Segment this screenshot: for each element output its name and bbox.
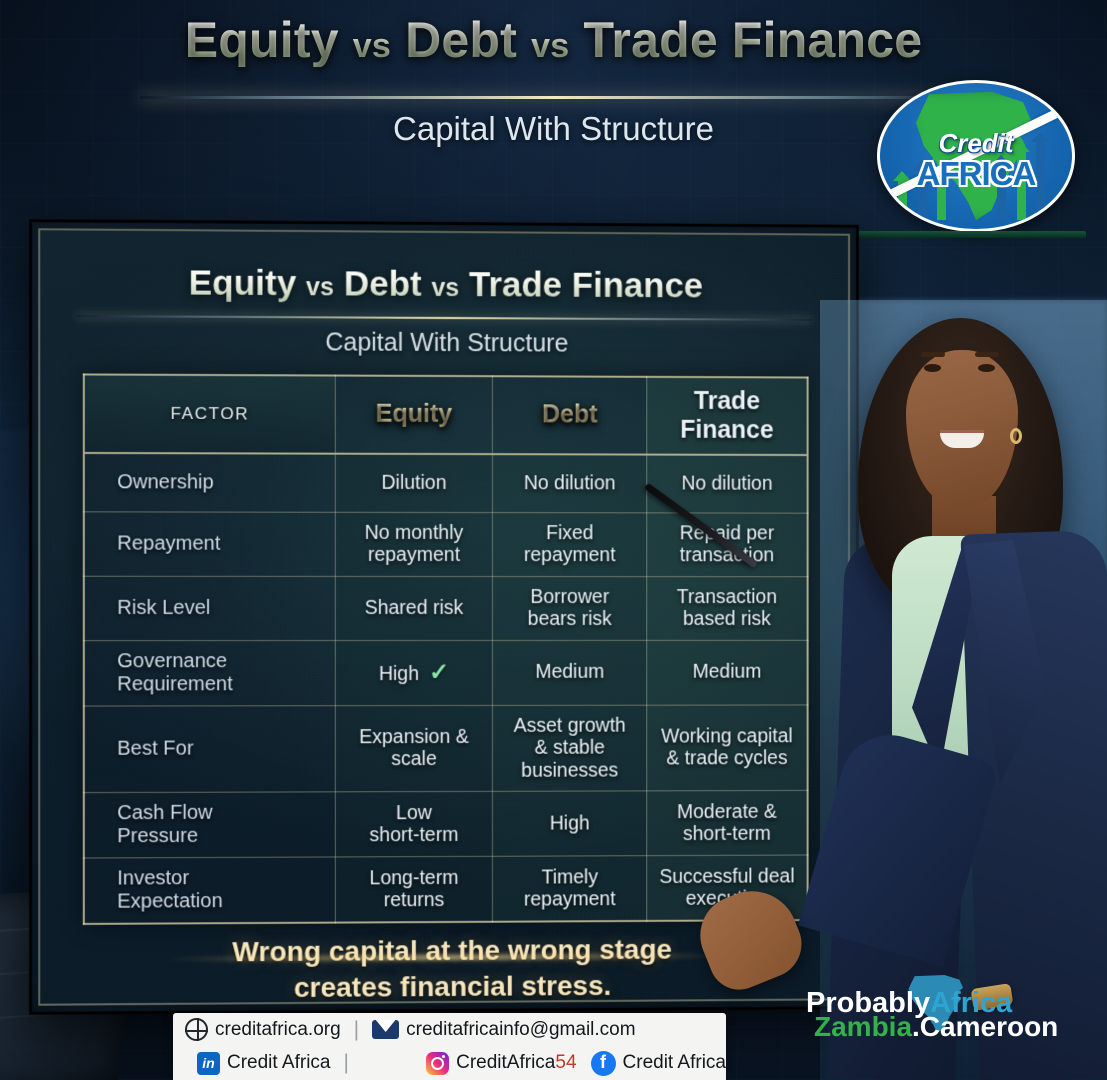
cell-trade-3: Medium xyxy=(647,640,808,705)
cell-debt-1: Fixedrepayment xyxy=(493,513,647,577)
website-label: creditafrica.org xyxy=(215,1019,341,1041)
title-debt: Debt xyxy=(405,12,517,68)
cell-factor-2: Risk Level xyxy=(84,576,335,640)
cell-trade-4: Working capital& trade cycles xyxy=(647,705,808,791)
cell-debt-4: Asset growth& stable businesses xyxy=(493,705,647,791)
footer-row-2: in Credit Africa | CreditAfrica54 f Cred… xyxy=(173,1046,726,1080)
table-row: GovernanceRequirementHigh✓MediumMedium xyxy=(84,640,808,706)
table-row: Best ForExpansion &scaleAsset growth& st… xyxy=(84,705,808,793)
website-item[interactable]: creditafrica.org xyxy=(185,1018,341,1041)
contact-footer: creditafrica.org | creditafricainfo@gmai… xyxy=(173,1013,726,1080)
table-row: OwnershipDilutionNo dilutionNo dilution xyxy=(84,452,808,513)
board-title-vs-2: vs xyxy=(431,274,459,302)
globe-icon xyxy=(185,1018,208,1041)
title-equity: Equity xyxy=(185,12,339,68)
title-divider xyxy=(140,96,970,99)
footer-row-1: creditafrica.org | creditafricainfo@gmai… xyxy=(173,1013,726,1046)
board-title-vs-1: vs xyxy=(306,273,334,301)
cell-debt-5: High xyxy=(493,791,647,856)
linkedin-label: Credit Africa xyxy=(227,1052,330,1074)
board-subtitle: Capital With Structure xyxy=(40,327,848,360)
watermark: ProbablyAfrica Zambia.Cameroon xyxy=(806,983,1036,1045)
checkmark-icon: ✓ xyxy=(429,659,449,686)
linkedin-icon: in xyxy=(197,1052,220,1075)
email-label: creditafricainfo@gmail.com xyxy=(406,1019,635,1041)
logo-shelf xyxy=(858,231,1086,238)
email-item[interactable]: creditafricainfo@gmail.com xyxy=(372,1019,635,1041)
presenter-eye-right xyxy=(978,364,995,372)
infographic-canvas: Equity vs Debt vs Trade Finance Capital … xyxy=(0,0,1107,1080)
instagram-label: CreditAfrica xyxy=(456,1052,555,1074)
watermark-line-2: Zambia.Cameroon xyxy=(814,1013,1058,1041)
watermark-cameroon: .Cameroon xyxy=(912,1011,1058,1042)
presenter-eyebrow-left xyxy=(921,352,945,357)
cell-debt-6: Timelyrepayment xyxy=(493,856,647,922)
envelope-icon xyxy=(372,1020,399,1039)
board-surface: Equity vs Debt vs Trade Finance Capital … xyxy=(38,228,850,1006)
board-title: Equity vs Debt vs Trade Finance xyxy=(40,263,848,308)
column-header-factor: FACTOR xyxy=(84,374,335,453)
logo-wordmark: Credit AFRICA xyxy=(880,130,1072,190)
cell-factor-4: Best For xyxy=(84,705,335,792)
table-row: Cash FlowPressureLowshort-termHighModera… xyxy=(84,790,808,858)
column-header-debt: Debt xyxy=(493,376,647,454)
facebook-item[interactable]: f Credit Africa xyxy=(591,1051,726,1076)
footer-separator-2: | xyxy=(343,1051,348,1075)
page-title: Equity vs Debt vs Trade Finance xyxy=(0,14,1107,67)
cell-factor-3: GovernanceRequirement xyxy=(84,640,335,706)
cell-debt-0: No dilution xyxy=(493,454,647,513)
credit-africa-logo[interactable]: Credit AFRICA xyxy=(877,80,1075,232)
cell-trade-5: Moderate &short-term xyxy=(647,790,808,855)
table-header-row: FACTOR Equity Debt Trade Finance xyxy=(84,374,808,454)
title-trade-finance: Trade Finance xyxy=(583,12,922,68)
footer-separator-1: | xyxy=(354,1018,359,1042)
cell-equity-3: High✓ xyxy=(335,640,493,705)
cell-factor-1: Repayment xyxy=(84,512,335,576)
linkedin-item[interactable]: in Credit Africa xyxy=(197,1052,330,1075)
facebook-label: Credit Africa xyxy=(623,1052,726,1074)
cell-equity-1: No monthlyrepayment xyxy=(335,512,493,576)
board-title-equity: Equity xyxy=(189,263,297,303)
table-row: InvestorExpectationLong-termreturnsTimel… xyxy=(84,855,808,924)
cell-equity-2: Shared risk xyxy=(335,576,493,640)
board-title-trade-finance: Trade Finance xyxy=(469,265,703,305)
cell-equity-4: Expansion &scale xyxy=(335,705,493,792)
instagram-item[interactable]: CreditAfrica54 xyxy=(426,1052,576,1075)
cell-equity-0: Dilution xyxy=(335,453,493,512)
cell-factor-0: Ownership xyxy=(84,452,335,512)
table-row: Risk LevelShared riskBorrowerbears riskT… xyxy=(84,576,808,640)
logo-line-credit: Credit xyxy=(880,130,1072,156)
cell-trade-2: Transactionbased risk xyxy=(647,576,808,640)
cell-debt-2: Borrowerbears risk xyxy=(493,576,647,640)
title-vs-1: vs xyxy=(353,27,391,65)
cell-debt-3: Medium xyxy=(493,640,647,705)
column-header-equity: Equity xyxy=(335,376,493,454)
watermark-zambia: Zambia xyxy=(814,1011,912,1042)
instagram-icon xyxy=(426,1052,449,1075)
logo-line-africa: AFRICA xyxy=(880,157,1072,190)
presenter-eye-left xyxy=(924,364,941,372)
cell-equity-6: Long-termreturns xyxy=(335,856,493,922)
column-header-trade-finance: Trade Finance xyxy=(647,377,808,455)
facebook-icon: f xyxy=(591,1051,616,1076)
instagram-number: 54 xyxy=(555,1052,576,1074)
cell-factor-6: InvestorExpectation xyxy=(84,857,335,924)
title-vs-2: vs xyxy=(531,27,569,65)
comparison-table: FACTOR Equity Debt Trade Finance Ownersh… xyxy=(83,373,809,924)
cell-equity-5: Lowshort-term xyxy=(335,791,493,857)
board-title-debt: Debt xyxy=(344,264,422,303)
presenter-photo xyxy=(820,300,1107,1080)
presenter-earring xyxy=(1010,428,1022,444)
presenter-eyebrow-right xyxy=(975,352,999,357)
cell-factor-5: Cash FlowPressure xyxy=(84,792,335,858)
tagline: Wrong capital at the wrong stagecreates … xyxy=(101,931,801,1006)
